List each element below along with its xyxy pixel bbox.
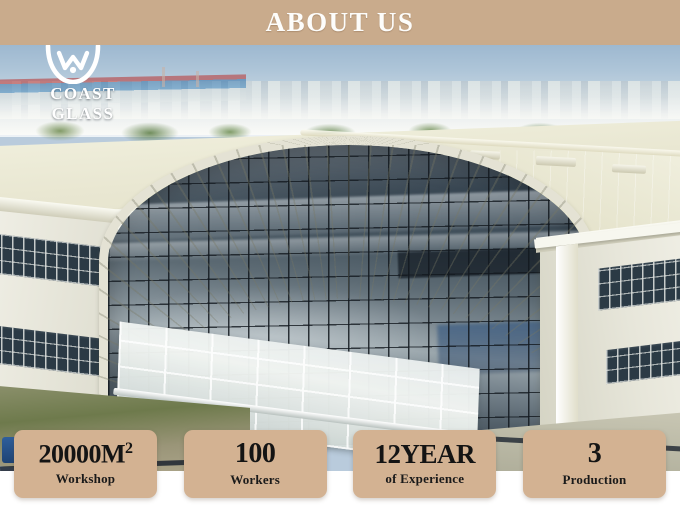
stat-value-workshop: 20000M2 bbox=[38, 441, 132, 468]
stat-card-production[interactable]: 3 Production bbox=[523, 430, 666, 498]
header-banner: ABOUT US bbox=[0, 0, 680, 45]
brand-name: COAST GLASS bbox=[18, 84, 148, 124]
stat-label-production: Production bbox=[563, 472, 627, 488]
stat-card-experience[interactable]: 12YEAR of Experience bbox=[353, 430, 496, 498]
stat-card-workshop[interactable]: 20000M2 Workshop bbox=[14, 430, 157, 498]
page-title: ABOUT US bbox=[0, 0, 680, 45]
stat-card-workers[interactable]: 100 Workers bbox=[184, 430, 327, 498]
stat-label-workers: Workers bbox=[230, 472, 280, 488]
stat-label-workshop: Workshop bbox=[56, 471, 115, 487]
stat-value-production: 3 bbox=[588, 440, 602, 469]
stats-row: 20000M2 Workshop 100 Workers 12YEAR of E… bbox=[0, 430, 680, 500]
about-us-slide: ABOUT US COAST GLASS 20000M2 Workshop 10… bbox=[0, 0, 680, 521]
brand-logo: COAST GLASS bbox=[18, 44, 148, 112]
antenna-tower-icon bbox=[162, 67, 165, 87]
stat-value-workers: 100 bbox=[235, 440, 276, 469]
antenna-tower-icon bbox=[196, 71, 199, 87]
stat-label-experience: of Experience bbox=[385, 471, 464, 487]
stat-value-experience: 12YEAR bbox=[375, 441, 476, 469]
coast-glass-emblem-icon bbox=[44, 44, 102, 84]
